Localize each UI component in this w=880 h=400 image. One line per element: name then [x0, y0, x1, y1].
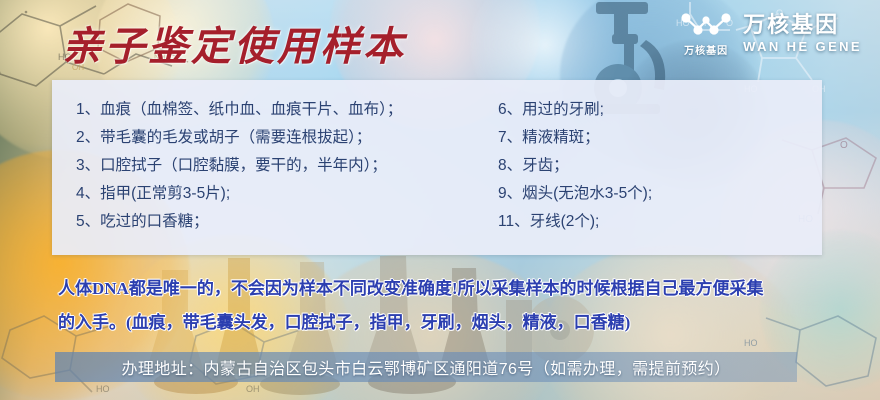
molecule-network-icon	[679, 10, 733, 40]
list-item: 6、用过的牙刷;	[498, 96, 822, 124]
list-item: 7、精液精斑；	[498, 124, 822, 152]
list-item: 11、牙线(2个);	[498, 208, 822, 236]
address-bar: 办理地址：内蒙古自治区包头市白云鄂博矿区通阳道76号（如需办理，需提前预约）	[55, 352, 797, 382]
logo-mark: 万核基因	[679, 10, 733, 57]
sample-list-panel: 1、血痕（血棉签、纸巾血、血痕干片、血布）； 2、带毛囊的毛发或胡子（需要连根拔…	[52, 80, 822, 255]
list-item: 4、指甲(正常剪3-5片);	[76, 180, 482, 208]
sample-list-right-column: 6、用过的牙刷; 7、精液精斑； 8、牙齿； 9、烟头(无泡水3-5个); 11…	[482, 96, 822, 255]
sample-list-left-column: 1、血痕（血棉签、纸巾血、血痕干片、血布）； 2、带毛囊的毛发或胡子（需要连根拔…	[52, 96, 482, 255]
poster-canvas: HO OH NH HO P O O HO OH O HO	[0, 0, 880, 400]
list-item: 9、烟头(无泡水3-5个);	[498, 180, 822, 208]
logo-wordmark: 万核基因 WAN HE GENE	[743, 14, 862, 53]
note-line-2: 的入手。(血痕，带毛囊头发，口腔拭子，指甲，牙刷，烟头，精液，口香糖)	[58, 306, 864, 340]
logo-name-en: WAN HE GENE	[743, 40, 862, 53]
list-item: 8、牙齿；	[498, 152, 822, 180]
address-text: 办理地址：内蒙古自治区包头市白云鄂博矿区通阳道76号（如需办理，需提前预约）	[122, 355, 731, 379]
logo-name-cn: 万核基因	[743, 14, 839, 36]
list-item: 5、吃过的口香糖；	[76, 208, 482, 236]
list-item: 2、带毛囊的毛发或胡子（需要连根拔起）；	[76, 124, 482, 152]
list-item: 3、口腔拭子（口腔黏膜，要干的，半年内）；	[76, 152, 482, 180]
list-item: 1、血痕（血棉签、纸巾血、血痕干片、血布）；	[76, 96, 482, 124]
page-title: 亲子鉴定使用样本	[62, 14, 406, 72]
note-line-1: 人体DNA都是唯一的，不会因为样本不同改变准确度!所以采集样本的时候根据自己最方…	[58, 272, 864, 306]
note-paragraph: 人体DNA都是唯一的，不会因为样本不同改变准确度!所以采集样本的时候根据自己最方…	[58, 272, 864, 340]
logo-mark-label: 万核基因	[684, 42, 728, 57]
brand-logo: 万核基因 万核基因 WAN HE GENE	[679, 10, 862, 57]
